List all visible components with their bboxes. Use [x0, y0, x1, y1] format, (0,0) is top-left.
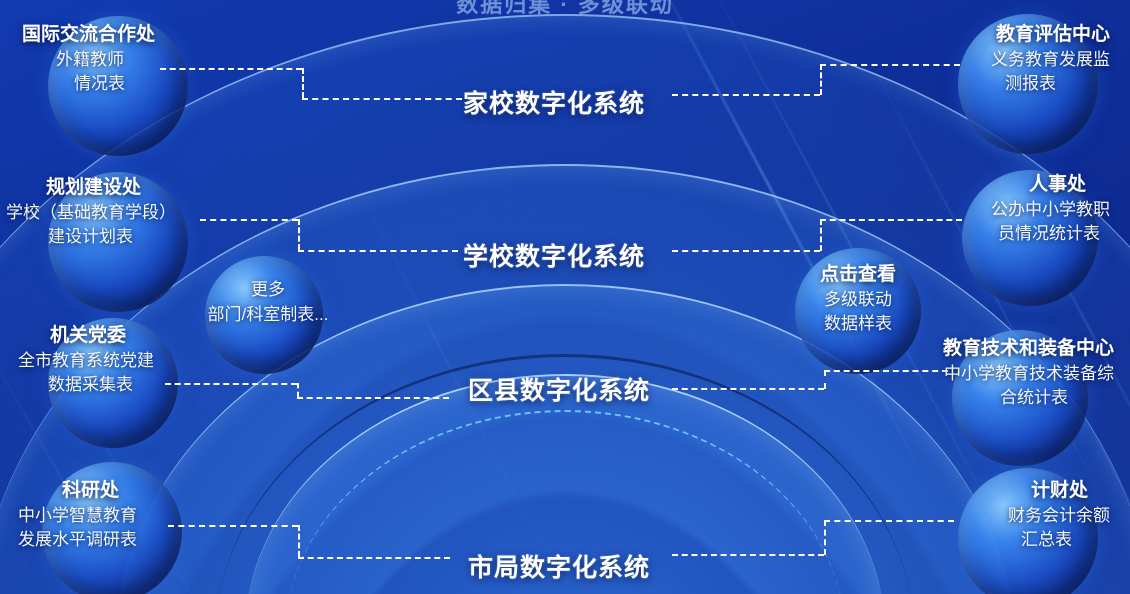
connector-segment-h2	[298, 557, 450, 559]
connector-segment-h2	[302, 98, 462, 100]
node-line-2: 发展水平调研表	[18, 528, 238, 553]
node-line-1: 公办中小学教职	[898, 198, 1110, 223]
node-line-2: 数据样表	[790, 312, 926, 337]
connector-segment-v	[298, 219, 300, 250]
connector-segment-v	[824, 520, 826, 555]
connector-segment-v	[824, 370, 826, 389]
node-line-1: 外籍教师	[22, 48, 232, 73]
node-intl-exchange[interactable]: 国际交流合作处 外籍教师 情况表	[22, 22, 232, 97]
node-planning-construction[interactable]: 规划建设处 学校（基础教育学段） 建设计划表	[6, 175, 246, 250]
node-title: 人事处	[898, 172, 1110, 198]
node-line-2: 情况表	[22, 72, 232, 97]
node-view-sample[interactable]: 点击查看 多级联动 数据样表	[790, 262, 926, 337]
diagram-canvas: 数据归集 · 多级联动 家校数字化系统 学校数字化系统 区县数字化系统 市局数字…	[0, 0, 1130, 594]
connector-segment-v	[820, 219, 822, 251]
node-line-2: 数据采集表	[18, 373, 248, 398]
node-line-1: 中小学智慧教育	[18, 504, 238, 529]
node-line-1: 中小学教育技术装备综	[888, 362, 1114, 387]
connector-segment-h2	[297, 397, 449, 399]
connector-segment-v	[302, 68, 304, 98]
node-line-2: 合统计表	[888, 386, 1114, 411]
connector-segment-h1	[672, 554, 824, 556]
connector-segment-v	[297, 383, 299, 397]
node-line-1: 义务教育发展监	[898, 48, 1110, 73]
connector-segment-v	[820, 64, 822, 95]
node-title: 科研处	[18, 478, 238, 504]
connector-segment-h1	[672, 94, 820, 96]
connector-segment-h1	[672, 250, 820, 252]
connector-segment-h1	[672, 388, 824, 390]
node-title: 规划建设处	[6, 175, 246, 201]
node-line-1: 全市教育系统党建	[18, 349, 248, 374]
node-research-office[interactable]: 科研处 中小学智慧教育 发展水平调研表	[18, 478, 238, 553]
node-line-1: 学校（基础教育学段）	[6, 201, 246, 226]
node-evaluation-center[interactable]: 教育评估中心 义务教育发展监 测报表	[898, 22, 1110, 97]
connector-segment-h2	[298, 250, 458, 252]
node-line-1: 财务会计余额	[898, 504, 1110, 529]
node-party-committee[interactable]: 机关党委 全市教育系统党建 数据采集表	[18, 323, 248, 398]
arc-label-district: 区县数字化系统	[468, 371, 650, 407]
node-title: 教育技术和装备中心	[888, 336, 1114, 362]
arc-label-bureau: 市局数字化系统	[468, 548, 650, 584]
node-title: 更多	[178, 278, 358, 303]
node-line-2: 测报表	[898, 72, 1110, 97]
node-title: 国际交流合作处	[22, 22, 232, 48]
node-line-2: 汇总表	[898, 528, 1110, 553]
node-line-1: 多级联动	[790, 288, 926, 313]
node-title: 点击查看	[790, 262, 926, 288]
node-line-2: 建设计划表	[6, 225, 246, 250]
node-more-departments[interactable]: 更多 部门/科室制表...	[178, 278, 358, 327]
node-tech-equipment-center[interactable]: 教育技术和装备中心 中小学教育技术装备综 合统计表	[888, 336, 1114, 411]
node-finance-office[interactable]: 计财处 财务会计余额 汇总表	[898, 478, 1110, 553]
node-personnel-office[interactable]: 人事处 公办中小学教职 员情况统计表	[898, 172, 1110, 247]
node-title: 教育评估中心	[898, 22, 1110, 48]
node-line-2: 员情况统计表	[898, 222, 1110, 247]
node-line-1: 部门/科室制表...	[178, 303, 358, 328]
node-title: 计财处	[898, 478, 1110, 504]
connector-segment-v	[298, 525, 300, 557]
arc-label-home-school: 家校数字化系统	[463, 84, 645, 120]
